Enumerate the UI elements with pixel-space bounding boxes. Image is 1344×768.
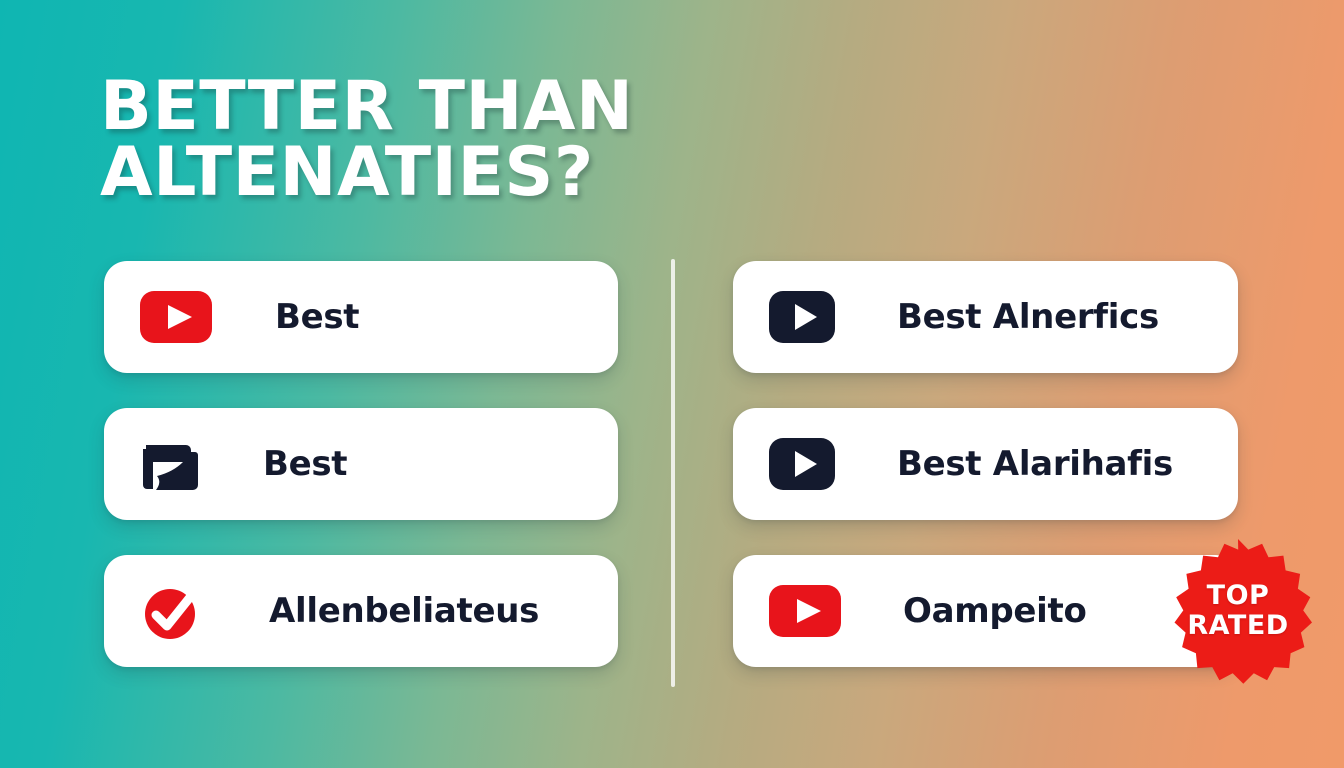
folder-dark-icon [140, 435, 200, 493]
left-column: Best Best Allenbeliateus [104, 261, 618, 667]
page-title-line-2: Altenaties? [100, 140, 820, 206]
status-badge-line-2: RATED [1187, 611, 1288, 641]
list-item-label: Best Alnerfics [897, 297, 1159, 337]
play-red-icon [769, 585, 841, 637]
list-item-label: Best [275, 297, 359, 337]
list-item[interactable]: Allenbeliateus [104, 555, 618, 667]
play-dark-icon [769, 291, 835, 343]
list-item[interactable]: Oampeito TOP RATED [733, 555, 1238, 667]
list-item[interactable]: Best Alnerfics [733, 261, 1238, 373]
status-badge-line-1: TOP [1207, 581, 1270, 611]
right-column: Best Alnerfics Best Alarihafis Oampeito [733, 261, 1238, 667]
list-item[interactable]: Best [104, 261, 618, 373]
list-item-label: Allenbeliateus [269, 591, 539, 631]
page-title: Better Than Altenaties? [100, 74, 820, 206]
comparison-graphic: Better Than Altenaties? Best Be [0, 0, 1344, 768]
play-dark-icon [769, 438, 835, 490]
list-item-label: Best [263, 444, 347, 484]
status-badge-text: TOP RATED [1164, 537, 1312, 685]
list-item[interactable]: Best Alarihafis [733, 408, 1238, 520]
list-item[interactable]: Best [104, 408, 618, 520]
play-red-icon [140, 291, 212, 343]
list-item-label: Oampeito [903, 591, 1087, 631]
page-title-line-1: Better Than [100, 74, 820, 140]
column-divider [671, 259, 675, 687]
check-circle-red-icon [140, 580, 206, 642]
status-badge: TOP RATED [1164, 537, 1312, 685]
list-item-label: Best Alarihafis [897, 444, 1173, 484]
